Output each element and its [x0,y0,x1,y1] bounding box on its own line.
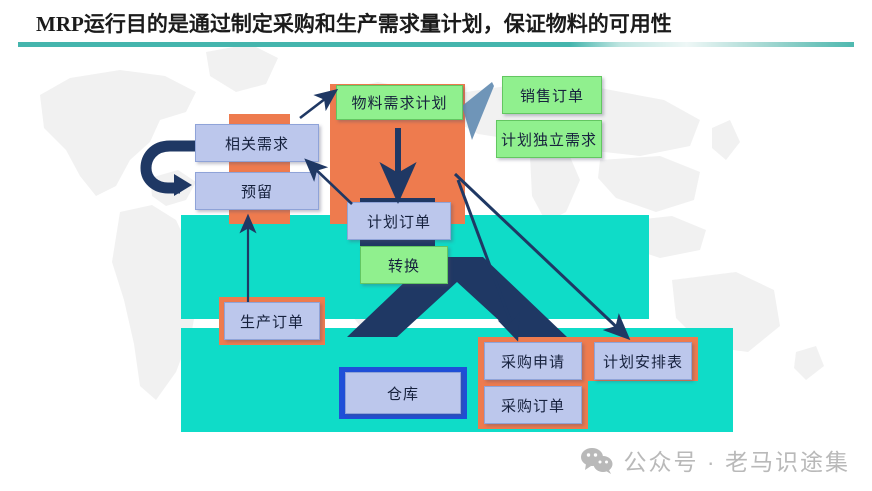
diagram-canvas: 相关需求 预留 物料需求计划 计划订单 转换 生产订单 仓库 销售订单 计划独立… [0,52,872,491]
conversion-chevron [281,247,633,337]
node-conversion[interactable]: 转换 [360,246,448,284]
node-label: 物料需求计划 [351,92,447,113]
node-purchase-requisition[interactable]: 采购申请 [484,342,582,380]
node-mrp[interactable]: 物料需求计划 [336,85,463,120]
curved-loop-arrow [140,132,202,196]
node-label: 转换 [388,255,420,276]
node-label: 销售订单 [520,85,584,106]
wechat-icon [580,446,614,474]
edge-planned-order-to-mrp [300,92,334,118]
slide-header: MRP运行目的是通过制定采购和生产需求量计划，保证物料的可用性 [0,0,872,52]
node-warehouse[interactable]: 仓库 [345,372,461,414]
node-planned-independent-requirement[interactable]: 计划独立需求 [496,120,602,158]
wechat-watermark: 公众号 · 老马识途集 [580,443,850,477]
node-label: 计划独立需求 [501,129,597,150]
node-dependent-requirement[interactable]: 相关需求 [195,124,319,162]
node-production-order[interactable]: 生产订单 [224,302,320,340]
node-label: 计划安排表 [603,351,683,372]
node-label: 仓库 [387,383,419,404]
page-title: MRP运行目的是通过制定采购和生产需求量计划，保证物料的可用性 [36,8,672,38]
slide-root: MRP运行目的是通过制定采购和生产需求量计划，保证物料的可用性 [0,0,872,491]
node-sales-order[interactable]: 销售订单 [502,76,602,114]
header-divider [18,42,854,47]
node-label: 计划订单 [367,211,431,232]
triangle-decoration [460,80,496,142]
node-label: 预留 [241,181,273,202]
orange-accent-bottom [229,210,290,224]
node-planned-order[interactable]: 计划订单 [347,202,451,240]
node-label: 采购订单 [501,395,565,416]
node-label: 生产订单 [240,311,304,332]
watermark-text: 公众号 · 老马识途集 [624,443,850,477]
node-purchase-order[interactable]: 采购订单 [484,386,582,424]
node-label: 相关需求 [225,133,289,154]
node-planning-schedule[interactable]: 计划安排表 [594,342,692,380]
node-label: 采购申请 [501,351,565,372]
node-reservation[interactable]: 预留 [195,172,319,210]
